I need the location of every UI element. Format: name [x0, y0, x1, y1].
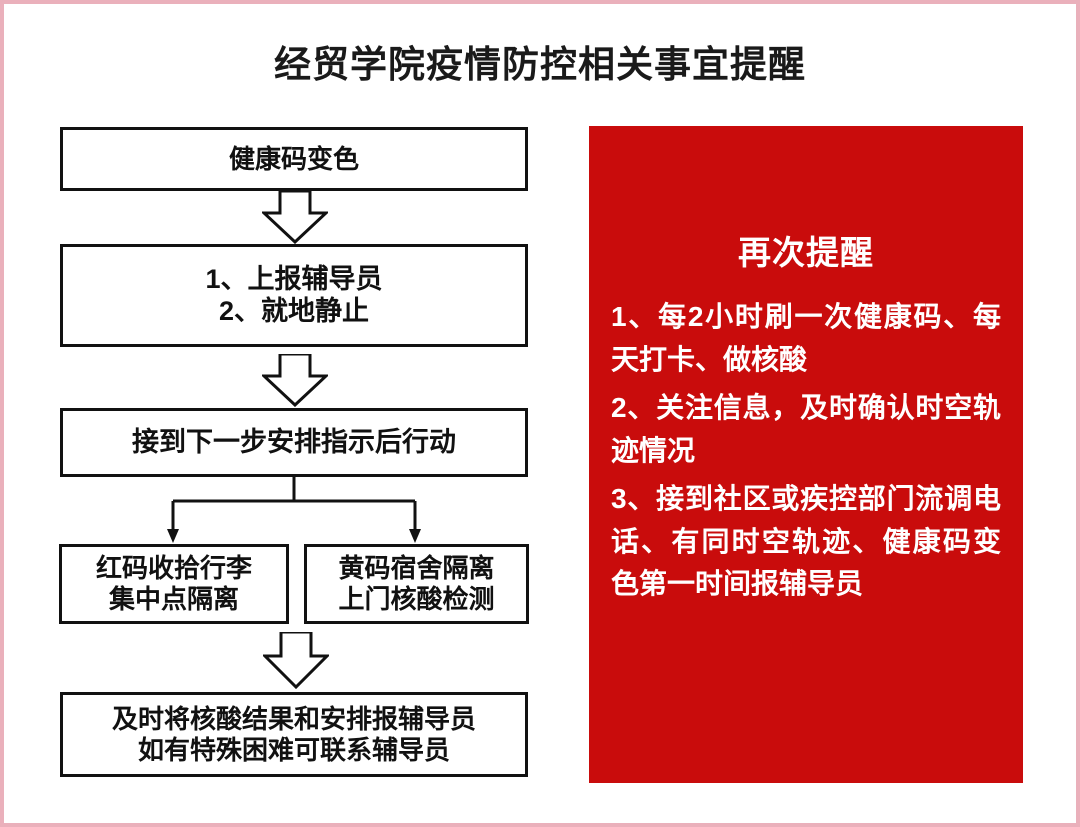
flow-box-report: 1、上报辅导员 2、就地静止: [60, 244, 528, 347]
reminder-item-1: 1、每2小时刷一次健康码、每天打卡、做核酸: [611, 296, 1001, 381]
down-block-arrow-icon-1: [262, 191, 328, 244]
flow-box-yellow-code-line-1: 黄码宿舍隔离: [338, 553, 494, 584]
flow-box-await-instruction: 接到下一步安排指示后行动: [60, 408, 528, 477]
flow-box-health-code-line-1: 健康码变色: [229, 144, 359, 175]
flow-box-final-report-line-1: 及时将核酸结果和安排报辅导员: [112, 704, 476, 735]
flow-box-final-report-line-2: 如有特殊困难可联系辅导员: [112, 735, 476, 766]
poster-page: 经贸学院疫情防控相关事宜提醒 健康码变色 1、上报辅导员 2、就地静止 接到下一…: [0, 0, 1080, 827]
flow-box-report-line-1: 1、上报辅导员: [205, 264, 382, 296]
reminder-item-3: 3、接到社区或疾控部门流调电话、有同时空轨迹、健康码变色第一时间报辅导员: [611, 478, 1001, 606]
flow-box-await-instruction-line-1: 接到下一步安排指示后行动: [132, 427, 456, 459]
flow-box-red-code: 红码收拾行李 集中点隔离: [59, 544, 289, 624]
reminder-item-2: 2、关注信息，及时确认时空轨迹情况: [611, 387, 1001, 472]
flow-box-final-report: 及时将核酸结果和安排报辅导员 如有特殊困难可联系辅导员: [60, 692, 528, 777]
reminder-panel: 再次提醒 1、每2小时刷一次健康码、每天打卡、做核酸 2、关注信息，及时确认时空…: [589, 126, 1023, 783]
flow-box-report-line-2: 2、就地静止: [205, 296, 382, 328]
flow-box-red-code-line-1: 红码收拾行李: [96, 553, 252, 584]
page-title: 经贸学院疫情防控相关事宜提醒: [4, 34, 1076, 88]
flow-box-yellow-code-line-2: 上门核酸检测: [338, 584, 494, 615]
flow-box-yellow-code: 黄码宿舍隔离 上门核酸检测: [304, 544, 529, 624]
flow-box-red-code-line-2: 集中点隔离: [96, 584, 252, 615]
reminder-panel-heading: 再次提醒: [611, 226, 1001, 274]
down-block-arrow-icon-3: [263, 632, 329, 689]
down-block-arrow-icon-2: [262, 354, 328, 407]
branch-connector: [164, 477, 424, 547]
flow-box-health-code: 健康码变色: [60, 127, 528, 191]
